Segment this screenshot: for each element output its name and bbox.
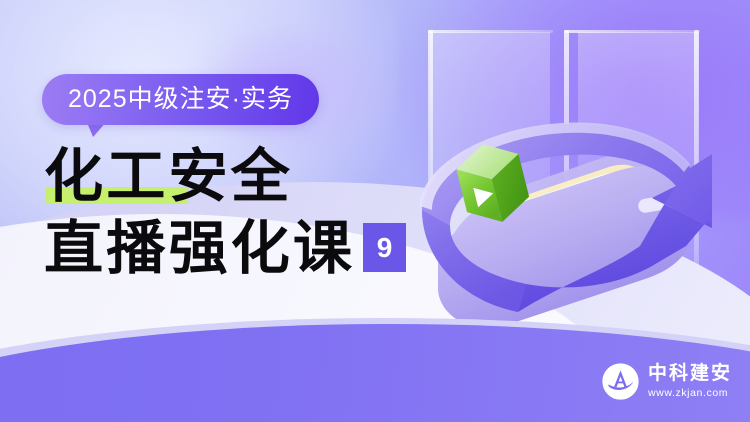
course-badge-label: 2025中级注安·实务 bbox=[68, 87, 293, 112]
headline-line-2-row: 直播强化课 9 bbox=[44, 220, 474, 278]
brand-text: 中科建安 www.zkjan.com bbox=[648, 364, 732, 400]
background-panel-top-2 bbox=[564, 30, 700, 33]
headline-line-2: 直播强化课 bbox=[44, 220, 355, 278]
course-promo-banner: 2025中级注安·实务 化工安全 直播强化课 9 中科建安 www.zkjan.… bbox=[0, 0, 750, 422]
brand-name: 中科建安 bbox=[648, 364, 732, 384]
brand-logo[interactable]: 中科建安 www.zkjan.com bbox=[602, 363, 732, 400]
brand-mark-icon bbox=[602, 363, 639, 400]
headline-line-1: 化工安全 bbox=[44, 148, 293, 206]
headline-line-1-row: 化工安全 bbox=[44, 148, 474, 206]
episode-number-badge: 9 bbox=[363, 223, 406, 272]
background-panel-top-1 bbox=[428, 30, 553, 33]
brand-url: www.zkjan.com bbox=[648, 387, 732, 400]
episode-number: 9 bbox=[377, 234, 393, 262]
headline-block: 化工安全 直播强化课 9 bbox=[44, 148, 474, 278]
course-badge: 2025中级注安·实务 bbox=[42, 74, 319, 125]
